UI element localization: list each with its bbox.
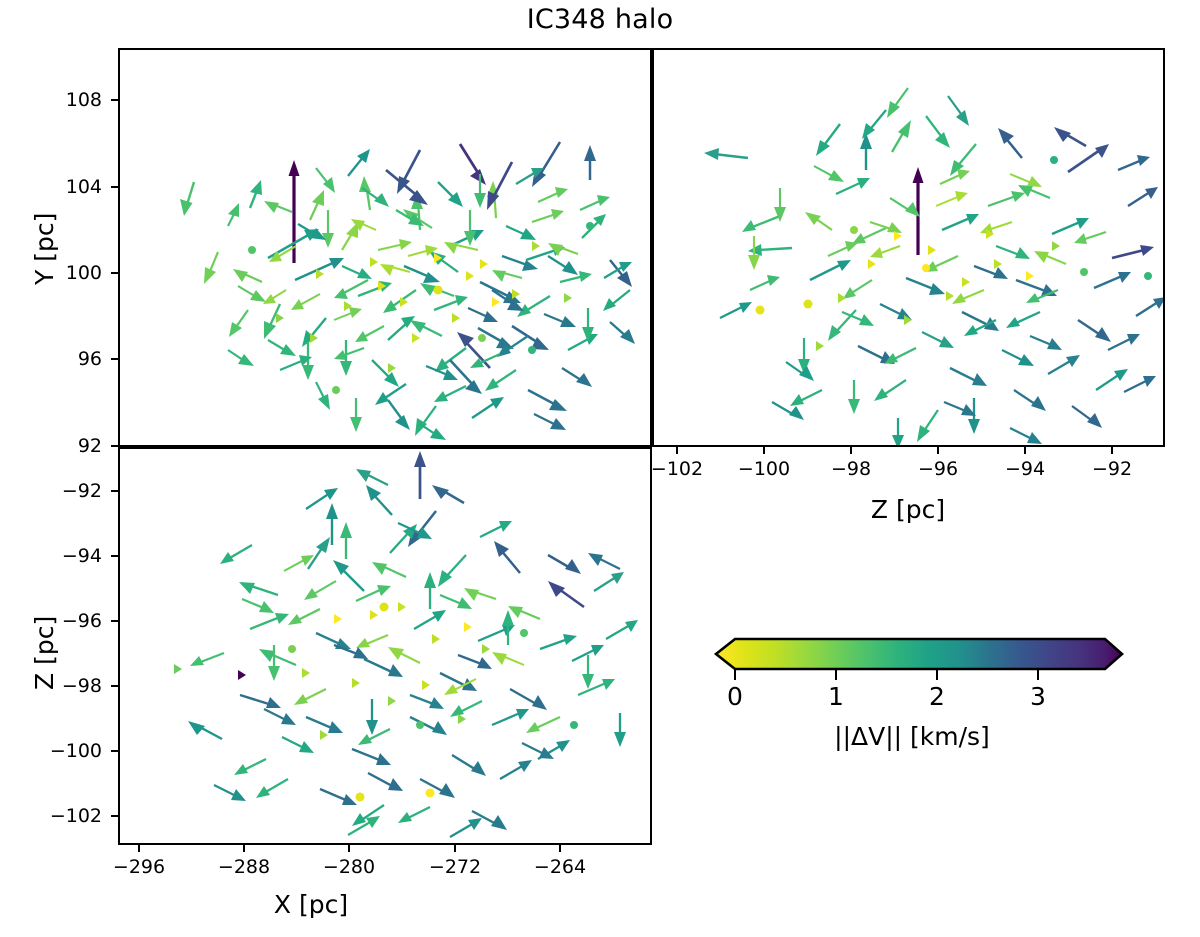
tick-label-z: −94: [1005, 458, 1045, 480]
tick-label-x: −272: [429, 856, 481, 878]
tick-mark: [111, 815, 118, 817]
tick-mark: [1111, 447, 1113, 454]
tick-mark: [348, 845, 350, 852]
tick-mark: [243, 845, 245, 852]
tick-mark: [111, 555, 118, 557]
tick-mark: [111, 186, 118, 188]
tick-label-z: −100: [738, 458, 790, 480]
tick-label-x: −288: [218, 856, 270, 878]
tick-label-z: −96: [918, 458, 958, 480]
tick-mark: [559, 845, 561, 852]
tick-mark: [111, 685, 118, 687]
tick-label-y: 104: [38, 176, 102, 198]
tick-mark: [111, 358, 118, 360]
tick-label-x: −296: [113, 856, 165, 878]
tick-label-z: −102: [651, 458, 703, 480]
tick-mark: [111, 620, 118, 622]
tick-label-y: 96: [38, 348, 102, 370]
panel-xy: [118, 48, 652, 447]
colorbar-tick-label: 1: [828, 682, 844, 711]
tick-mark: [111, 490, 118, 492]
tick-mark: [763, 447, 765, 454]
quiver-field-xz: [120, 449, 652, 845]
tick-mark: [850, 447, 852, 454]
tick-mark: [676, 447, 678, 454]
tick-label-z: −102: [28, 805, 102, 827]
tick-mark: [111, 445, 118, 447]
tick-mark: [138, 845, 140, 852]
colorbar-axis-label: ||ΔV|| [km/s]: [687, 722, 1137, 751]
colorbar: 0 1 2 3 ||ΔV|| [km/s]: [700, 630, 1150, 765]
colorbar-tick-label: 2: [929, 682, 945, 711]
tick-label-z: −98: [831, 458, 871, 480]
vector-stub-group: [174, 602, 578, 802]
colorbar-bar: [716, 639, 1122, 669]
colorbar-gradient: [700, 630, 1150, 690]
axis-label-z-pc-top: Z [pc]: [871, 495, 945, 524]
vector-arrow-group: [188, 451, 638, 837]
tick-label-x: −280: [323, 856, 375, 878]
colorbar-ticks: [735, 669, 1038, 680]
tick-label-z: −100: [28, 740, 102, 762]
tick-label-x: −264: [534, 856, 586, 878]
tick-mark: [454, 845, 456, 852]
panel-zy: [652, 48, 1165, 447]
colorbar-tick-label: 3: [1030, 682, 1046, 711]
quiver-field-xy: [120, 50, 652, 447]
vector-stub-group: [756, 156, 1153, 351]
tick-mark: [111, 750, 118, 752]
vector-arrow-group: [704, 88, 1165, 447]
tick-label-y: 92: [38, 435, 102, 457]
tick-mark: [111, 272, 118, 274]
quiver-field-zy: [654, 50, 1165, 447]
panel-xz: [118, 447, 652, 845]
tick-label-z: −94: [28, 545, 102, 567]
colorbar-tick-label: 0: [727, 682, 743, 711]
figure-canvas: IC348 halo: [0, 0, 1200, 937]
tick-label-y: 108: [38, 89, 102, 111]
axis-label-z-pc: Z [pc]: [30, 616, 59, 690]
vector-arrow-group: [180, 142, 635, 440]
tick-mark: [1024, 447, 1026, 454]
tick-label-z: −92: [1092, 458, 1132, 480]
tick-mark: [111, 99, 118, 101]
axis-label-x-pc: X [pc]: [274, 890, 348, 919]
axis-label-y-pc: Y [pc]: [30, 213, 59, 285]
page-title: IC348 halo: [0, 4, 1200, 35]
tick-label-z: −92: [28, 480, 102, 502]
tick-mark: [937, 447, 939, 454]
